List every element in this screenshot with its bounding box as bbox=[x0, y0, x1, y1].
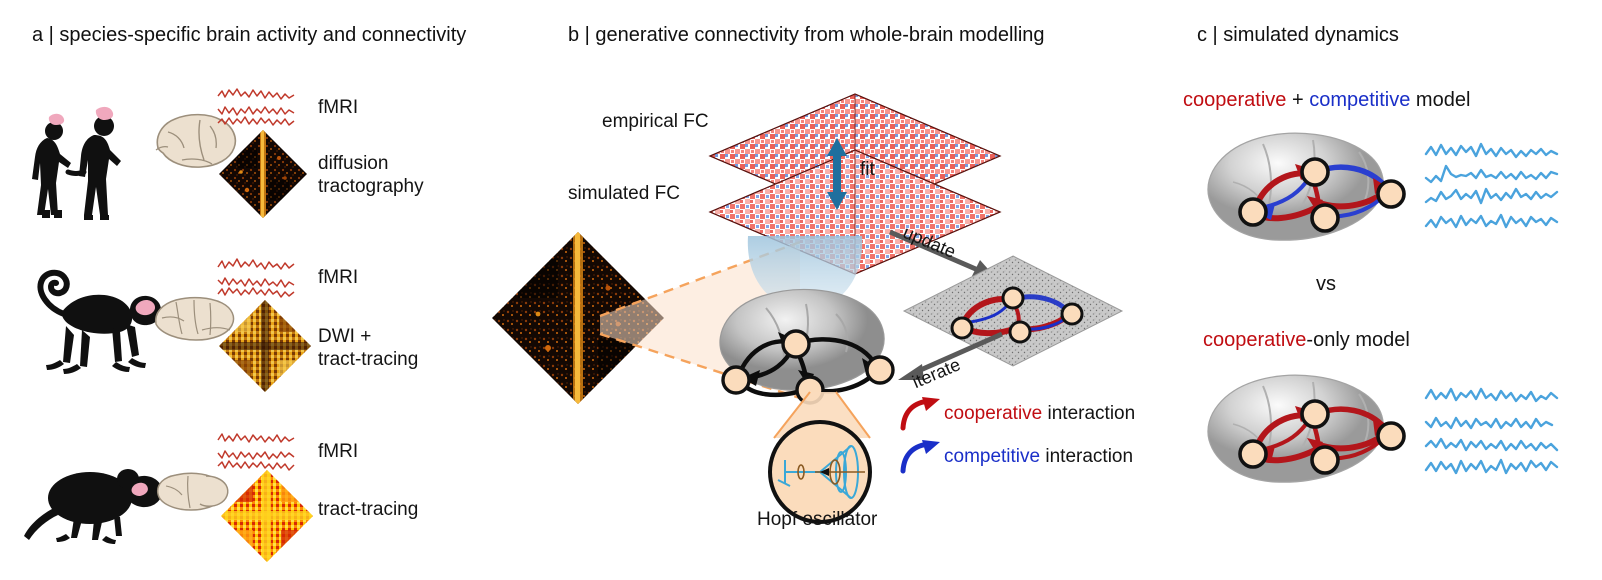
mouse-activity-label: fMRI bbox=[318, 440, 358, 463]
cooperative-rest: interaction bbox=[1042, 403, 1135, 424]
model-one-plus: + bbox=[1286, 89, 1309, 111]
bright-connectivity-matrix-diamond bbox=[219, 468, 315, 564]
model-two-part1: cooperative bbox=[1203, 329, 1306, 351]
brain-network-icon bbox=[1193, 126, 1419, 262]
fit-arrow-icon bbox=[820, 138, 854, 210]
simulated-fc-label: simulated FC bbox=[568, 182, 680, 205]
human-connectivity-line-2: tractography bbox=[318, 176, 424, 197]
golden-connectivity-matrix-diamond bbox=[217, 298, 313, 394]
panel-c-title: c | simulated dynamics bbox=[1197, 24, 1399, 47]
model-two-part2: -only model bbox=[1306, 329, 1409, 351]
macaque-activity-label: fMRI bbox=[318, 266, 358, 289]
brain-network-icon bbox=[1193, 368, 1419, 504]
dark-connectivity-matrix-diamond bbox=[217, 128, 309, 220]
competitive-rest: interaction bbox=[1040, 446, 1133, 467]
macaque-connectivity-line-1: DWI + bbox=[318, 326, 371, 347]
cooperative-arrow-icon bbox=[898, 395, 942, 429]
red-timeseries-traces bbox=[216, 86, 306, 130]
cooperative-emph: cooperative bbox=[944, 403, 1042, 424]
macaque-connectivity-line-2: tract-tracing bbox=[318, 349, 418, 370]
competitive-arrow-icon bbox=[898, 438, 942, 472]
central-brain-network bbox=[686, 236, 916, 426]
model-one-part2: competitive bbox=[1309, 89, 1410, 111]
model-one-label: cooperative + competitive model bbox=[1183, 88, 1470, 112]
blue-timeseries-traces bbox=[1424, 140, 1584, 232]
model-one-part3: model bbox=[1410, 89, 1470, 111]
macaque-connectivity-label: DWI + tract-tracing bbox=[318, 325, 418, 371]
competitive-emph: competitive bbox=[944, 446, 1040, 467]
panel-a-title: a | species-specific brain activity and … bbox=[32, 24, 466, 47]
human-activity-label: fMRI bbox=[318, 96, 358, 119]
fit-label: fit bbox=[860, 158, 875, 181]
red-timeseries-traces bbox=[216, 428, 306, 472]
human-connectivity-line-1: diffusion bbox=[318, 153, 388, 174]
model-one-part1: cooperative bbox=[1183, 89, 1286, 111]
panel-b-title: b | generative connectivity from whole-b… bbox=[568, 24, 1045, 47]
red-timeseries-traces bbox=[216, 256, 306, 300]
vs-label: vs bbox=[1316, 272, 1336, 296]
model-two-label: cooperative-only model bbox=[1203, 328, 1410, 352]
cooperative-legend-label: cooperative interaction bbox=[944, 402, 1135, 425]
human-connectivity-label: diffusion tractography bbox=[318, 152, 424, 198]
hopf-oscillator-label: Hopf oscillator bbox=[757, 508, 877, 531]
structural-matrix-diamond bbox=[488, 228, 668, 408]
competitive-legend-label: competitive interaction bbox=[944, 445, 1133, 468]
blue-timeseries-traces bbox=[1424, 382, 1584, 474]
mouse-connectivity-label: tract-tracing bbox=[318, 498, 418, 521]
